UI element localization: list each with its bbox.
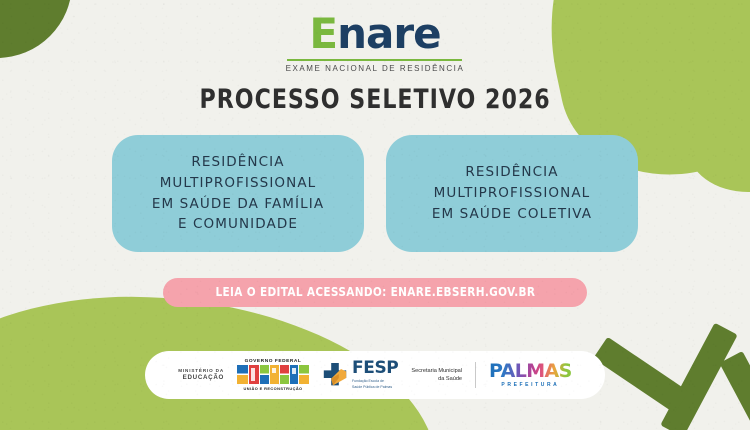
page-title: PROCESSO SELETIVO 2026 [199, 84, 550, 115]
ministerio-educacao-logo: MINISTÉRIO DA EDUCAÇÃO [178, 368, 224, 383]
fesp-cross-icon [322, 362, 348, 388]
fesp-subtitle: Fundação Escola de Saúde Pública de Palm… [352, 379, 398, 389]
palmas-wordmark: PALMAS [489, 362, 572, 381]
enare-logo-letters-nare: nare [337, 9, 440, 58]
palmas-subtitle: PREFEITURA [489, 382, 572, 388]
program-card-label: RESIDÊNCIA MULTIPROFISSIONAL EM SAÚDE CO… [432, 162, 592, 225]
fesp-text-block: FESP Fundação Escola de Saúde Pública de… [352, 360, 398, 389]
brasil-blocks-icon [237, 365, 309, 384]
enare-logo-letter-e: E [309, 9, 337, 58]
governo-federal-logo: GOVERNO FEDERAL [237, 359, 309, 392]
secretaria-municipal-saude-label: Secretaria Municipal da Saúde [411, 367, 462, 383]
poster-canvas: Enare EXAME NACIONAL DE RESIDÊNCIA PROCE… [0, 0, 750, 430]
governo-federal-tagline: UNIÃO E RECONSTRUÇÃO [237, 386, 309, 391]
fesp-wordmark: FESP [352, 360, 398, 377]
enare-logo: Enare EXAME NACIONAL DE RESIDÊNCIA [286, 13, 465, 73]
enare-logo-subtitle: EXAME NACIONAL DE RESIDÊNCIA [286, 64, 465, 73]
enare-logo-rule [287, 59, 462, 61]
program-card-list: RESIDÊNCIA MULTIPROFISSIONAL EM SAÚDE DA… [112, 135, 638, 252]
fesp-logo: FESP Fundação Escola de Saúde Pública de… [322, 360, 398, 389]
footer-divider [475, 362, 476, 388]
program-card-label: RESIDÊNCIA MULTIPROFISSIONAL EM SAÚDE DA… [152, 152, 324, 236]
governo-federal-label: GOVERNO FEDERAL [237, 359, 309, 364]
partner-logo-bar: MINISTÉRIO DA EDUCAÇÃO GOVERNO FEDERAL [145, 351, 605, 399]
palmas-prefeitura-logo: PALMAS PREFEITURA [489, 362, 572, 388]
ministerio-line-two: EDUCAÇÃO [178, 374, 224, 382]
edital-cta-label: LEIA O EDITAL ACESSANDO: ENARE.EBSERH.GO… [215, 284, 535, 299]
ministerio-line-one: MINISTÉRIO DA [178, 368, 224, 374]
edital-cta-banner[interactable]: LEIA O EDITAL ACESSANDO: ENARE.EBSERH.GO… [163, 278, 588, 307]
program-card-familia-comunidade: RESIDÊNCIA MULTIPROFISSIONAL EM SAÚDE DA… [112, 135, 364, 252]
enare-wordmark: Enare [286, 13, 465, 55]
program-card-saude-coletiva: RESIDÊNCIA MULTIPROFISSIONAL EM SAÚDE CO… [386, 135, 638, 252]
